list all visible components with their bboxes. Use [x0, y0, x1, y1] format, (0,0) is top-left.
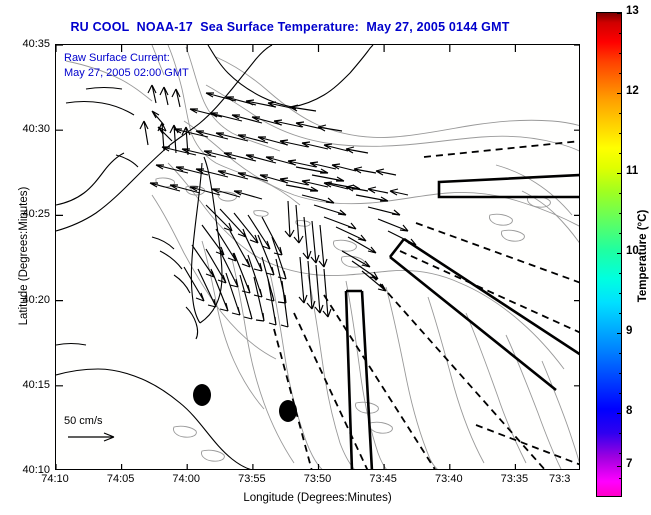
colorbar-tick-10 [617, 253, 622, 254]
x-tick-label-4: 73:50 [290, 473, 346, 485]
colorbar-minor-tick [619, 293, 622, 294]
colorbar [596, 12, 622, 497]
colorbar-tick-8 [617, 413, 622, 414]
colorbar-minor-tick [619, 313, 622, 314]
colorbar-minor-tick [619, 53, 622, 54]
y-axis-title: Latitude (Degrees:Minutes) [18, 156, 30, 356]
colorbar-minor-tick [619, 478, 622, 479]
annotation-line-1: Raw Surface Current: [64, 51, 170, 66]
y-tick-label-5: 40:10 [2, 464, 50, 476]
colorbar-minor-tick [619, 453, 622, 454]
figure-root: RU COOL NOAA-17 Sea Surface Temperature:… [0, 0, 651, 515]
x-tick-label-1: 74:05 [93, 473, 149, 485]
colorbar-minor-tick [619, 393, 622, 394]
y-tick-label-4: 40:15 [2, 379, 50, 391]
colorbar-label-9: 9 [626, 325, 632, 337]
colorbar-tick-9 [617, 333, 622, 334]
y-tick-label-1: 40:30 [2, 123, 50, 135]
scale-arrow [68, 433, 114, 441]
colorbar-label-7: 7 [626, 458, 632, 470]
surface-current-vectors [140, 85, 416, 327]
colorbar-minor-tick [619, 73, 622, 74]
colorbar-tick-7 [617, 466, 622, 467]
map-canvas [56, 45, 580, 470]
colorbar-minor-tick [619, 233, 622, 234]
y-tick-label-0: 40:35 [2, 38, 50, 50]
colorbar-label-13: 13 [626, 5, 639, 17]
colorbar-minor-tick [619, 33, 622, 34]
x-tick-label-7: 73:35 [486, 473, 542, 485]
colorbar-minor-tick [619, 353, 622, 354]
station-markers [193, 384, 297, 422]
figure-title: RU COOL NOAA-17 Sea Surface Temperature:… [0, 20, 580, 34]
colorbar-minor-tick [619, 373, 622, 374]
scale-legend-label: 50 cm/s [64, 415, 103, 427]
colorbar-minor-tick [619, 193, 622, 194]
colorbar-tick-13 [617, 13, 622, 14]
colorbar-minor-tick [619, 213, 622, 214]
colorbar-minor-tick [619, 113, 622, 114]
x-tick-label-5: 73:45 [355, 473, 411, 485]
colorbar-minor-tick [619, 273, 622, 274]
x-axis-title: Longitude (Degrees:Minutes) [55, 492, 580, 504]
colorbar-minor-tick [619, 133, 622, 134]
colorbar-tick-12 [617, 93, 622, 94]
coastline [56, 45, 373, 470]
colorbar-tick-11 [617, 173, 622, 174]
x-tick-label-8: 73:3 [549, 473, 595, 485]
radar-beam-wedges [346, 175, 580, 470]
x-tick-label-2: 74:00 [158, 473, 214, 485]
colorbar-minor-tick [619, 153, 622, 154]
colorbar-title: Temperature (°C) [637, 166, 649, 346]
x-tick-label-3: 73:55 [224, 473, 280, 485]
x-tick-label-6: 73:40 [421, 473, 477, 485]
annotation-line-2: May 27, 2005 02:00 GMT [64, 66, 189, 81]
map-axes: Raw Surface Current: May 27, 2005 02:00 … [55, 44, 580, 470]
colorbar-label-12: 12 [626, 85, 639, 97]
colorbar-minor-tick [619, 433, 622, 434]
colorbar-label-8: 8 [626, 405, 632, 417]
